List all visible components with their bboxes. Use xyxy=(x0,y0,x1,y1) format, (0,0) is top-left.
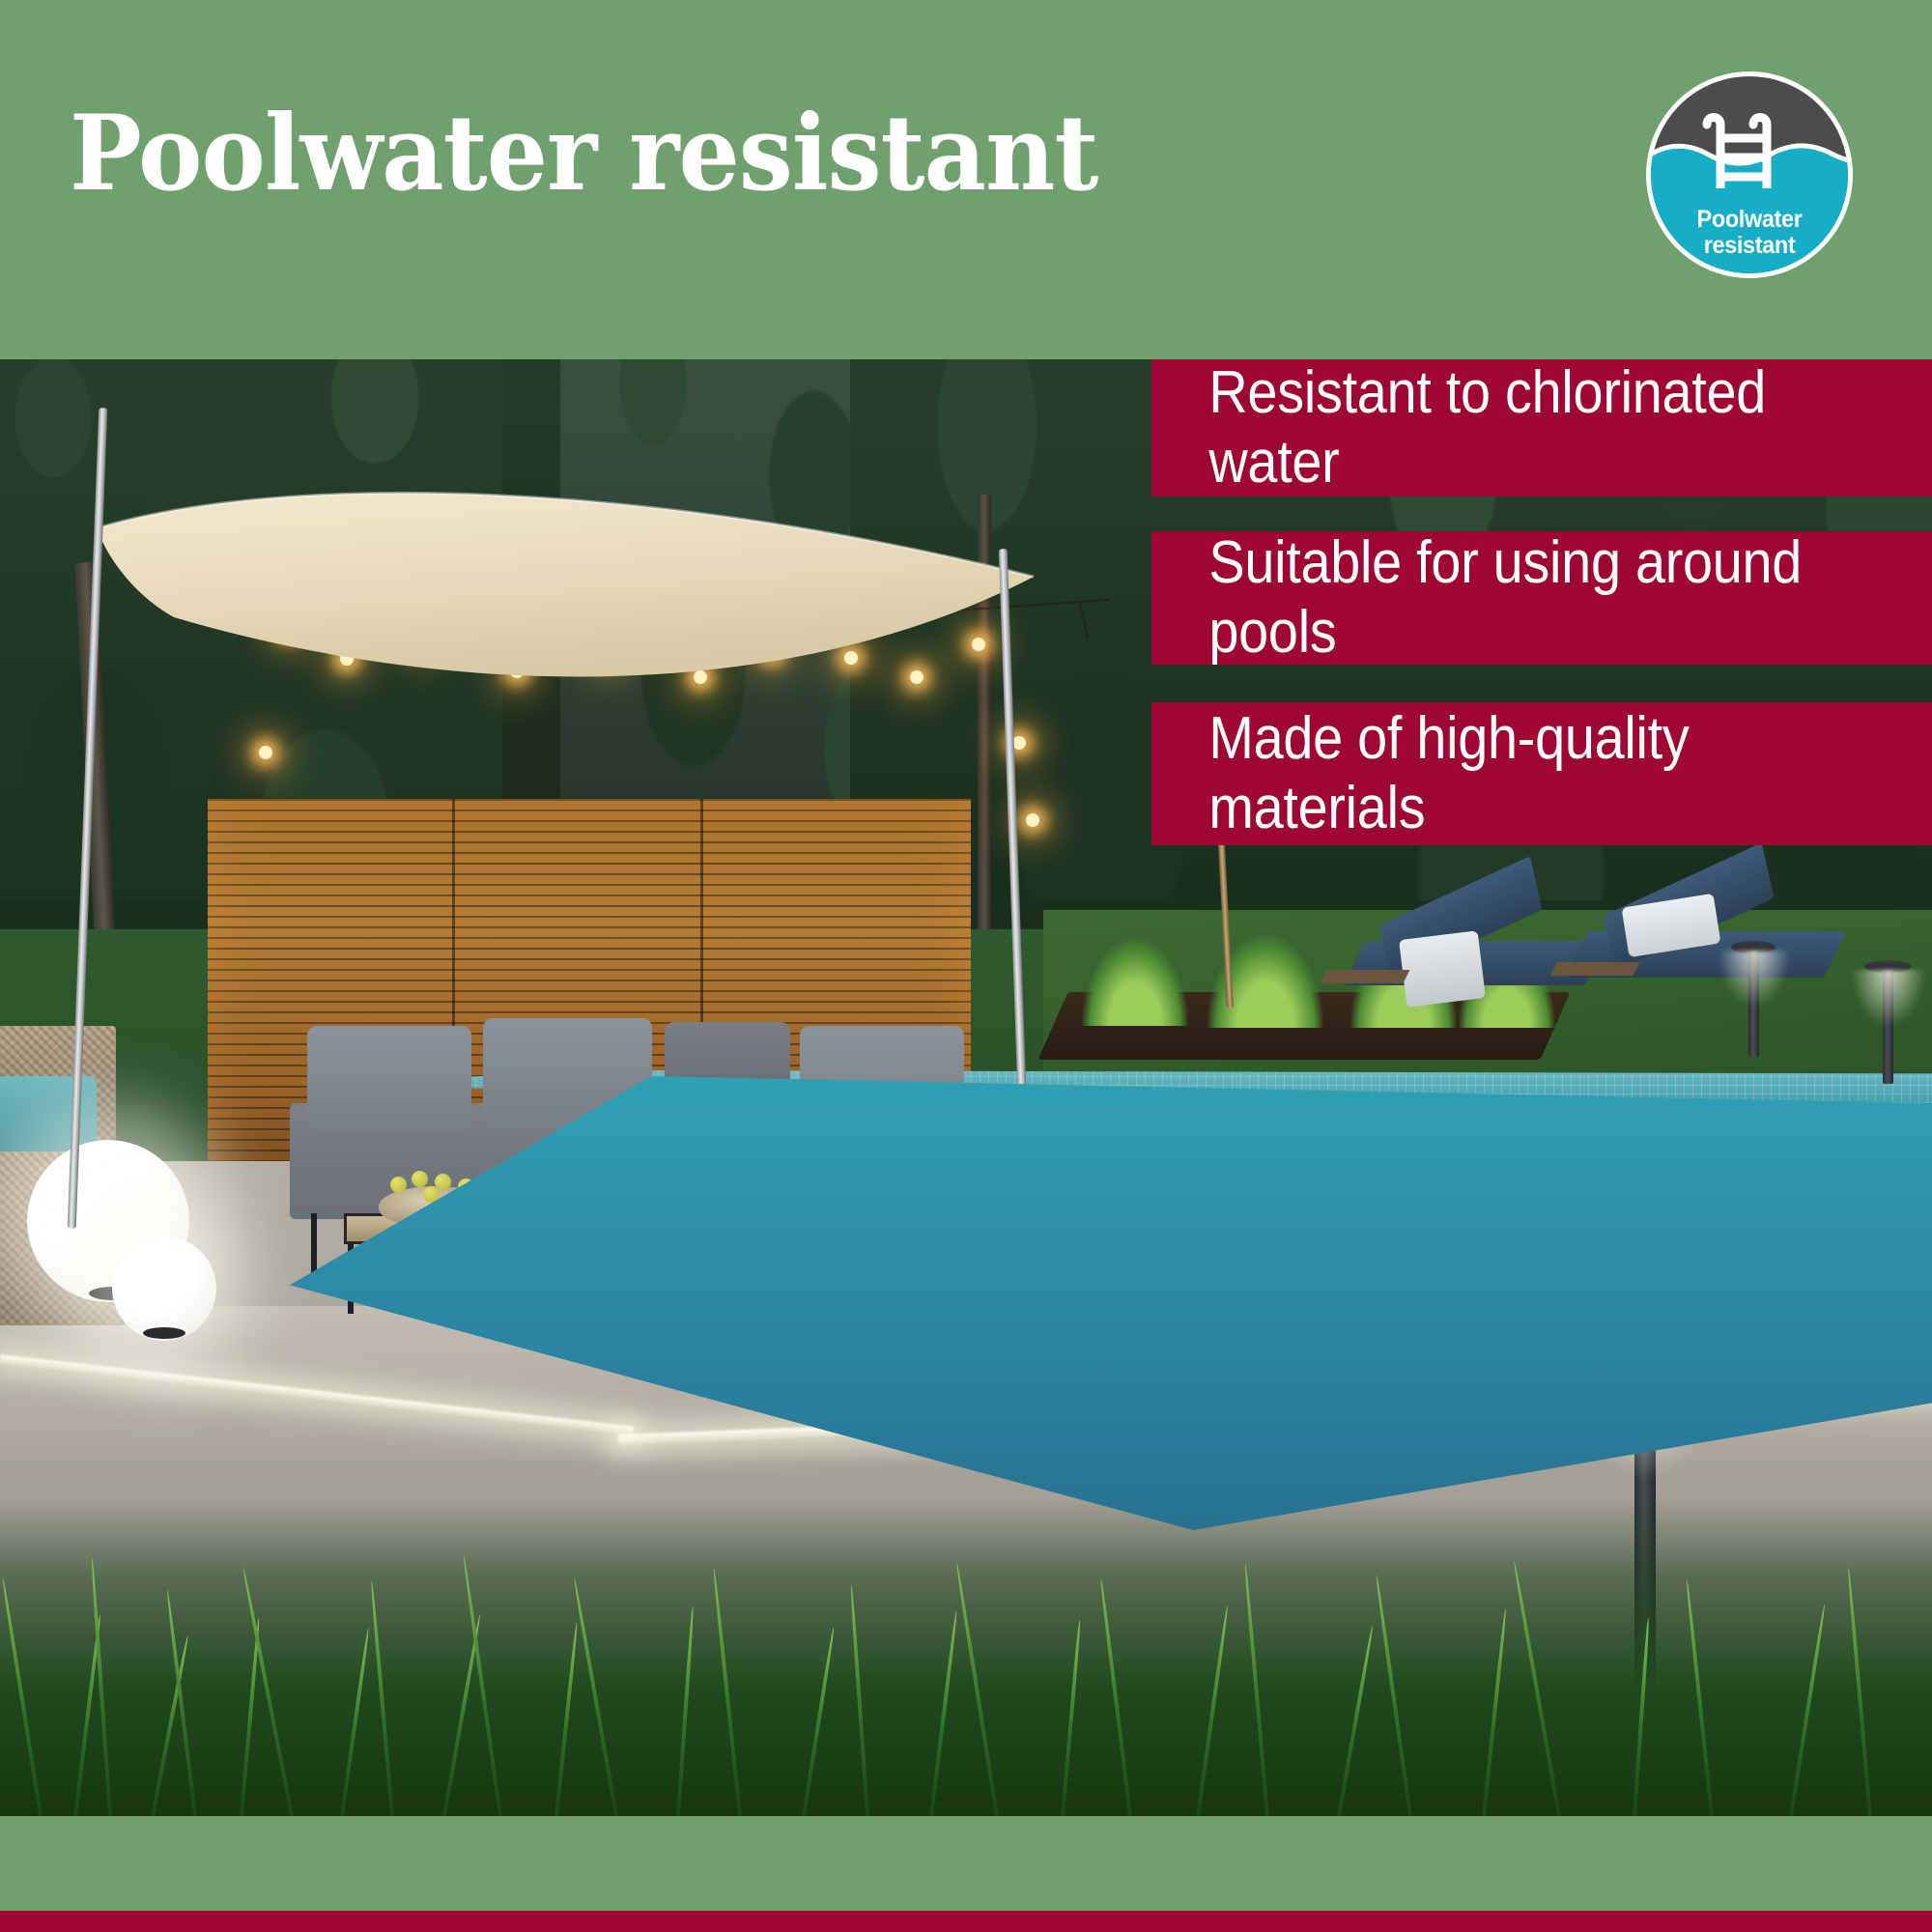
string-light-bulb xyxy=(1026,813,1039,827)
header-band: Poolwater resistant xyxy=(0,0,1932,359)
badge-label: Poolwater resistant xyxy=(1657,207,1842,258)
callout-text: Made of high-quality materials xyxy=(1151,704,1854,843)
callout-high-quality-materials: Made of high-quality materials xyxy=(1151,702,1932,845)
footer-red-band xyxy=(0,1911,1932,1932)
sphere-lamp-small xyxy=(112,1236,216,1341)
badge-label-line1: Poolwater xyxy=(1657,207,1842,233)
fruit xyxy=(390,1177,407,1193)
string-light-bulb xyxy=(259,746,272,759)
badge-label-line2: resistant xyxy=(1657,233,1842,259)
pool-ladder-icon xyxy=(1699,105,1800,188)
callout-text: Suitable for using around pools xyxy=(1151,528,1854,668)
callout-suitable-around-pools: Suitable for using around pools xyxy=(1151,531,1932,665)
poster-root: Poolwater resistant Poolwater resistant … xyxy=(0,0,1932,1932)
sofa-cushion xyxy=(307,1026,471,1130)
fruit xyxy=(435,1174,451,1190)
shade-sail xyxy=(58,412,1053,731)
footer-green-band xyxy=(0,1816,1932,1911)
callout-resistant-chlorinated-water: Resistant to chlorinated water xyxy=(1151,359,1932,497)
string-light-bulb xyxy=(1012,736,1026,750)
callout-text: Resistant to chlorinated water xyxy=(1151,358,1854,497)
foreground-grasses xyxy=(0,1497,1932,1816)
page-title: Poolwater resistant xyxy=(70,101,1097,206)
poolwater-resistant-badge: Poolwater resistant xyxy=(1646,71,1853,278)
fruit xyxy=(412,1171,428,1187)
callout-list: Resistant to chlorinated water Suitable … xyxy=(1151,359,1932,1229)
